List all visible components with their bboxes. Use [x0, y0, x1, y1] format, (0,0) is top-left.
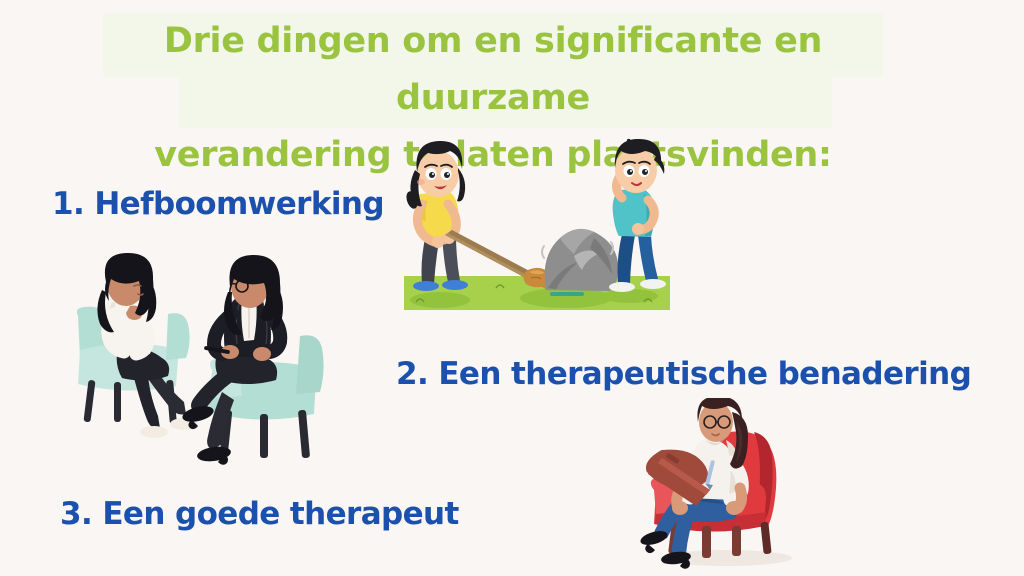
lever-and-rock-illustration [398, 138, 676, 316]
title-block: Drie dingen om en significante en duurza… [103, 13, 883, 131]
heading-item-1: 1. Hefboomwerking [52, 185, 384, 223]
heading-item-3: 3. Een goede therapeut [60, 495, 459, 533]
slide-canvas: Drie dingen om en significante en duurza… [0, 0, 1024, 576]
therapist-red-chair-illustration [622, 398, 814, 570]
heading-item-2: 2. Een therapeutische benadering [396, 355, 971, 393]
therapy-session-illustration [72, 252, 330, 492]
